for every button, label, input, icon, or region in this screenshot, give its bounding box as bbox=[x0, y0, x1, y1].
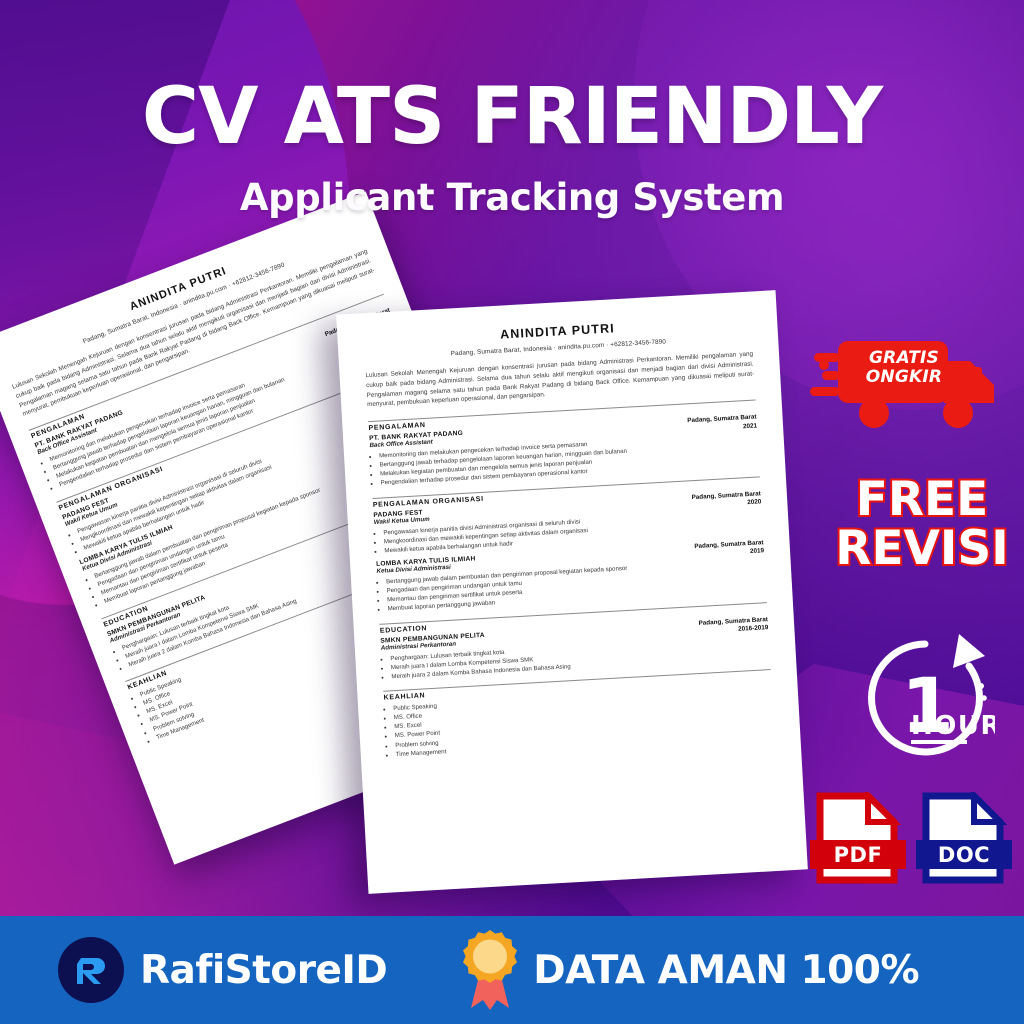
doc-label: DOC bbox=[916, 840, 1012, 869]
medal-ribbon-icon bbox=[459, 928, 521, 1012]
cv-front-period: 2020 bbox=[747, 498, 761, 506]
poster-header: CV ATS FRIENDLY Applicant Tracking Syste… bbox=[0, 78, 1024, 219]
free-revisi-badge: FREE REVISI bbox=[824, 476, 1020, 574]
brand-block: RafiStoreID bbox=[58, 937, 387, 1003]
doc-file-badge: DOC bbox=[918, 792, 1010, 884]
pdf-file-badge: PDF bbox=[812, 792, 904, 884]
one-hour-badge: 1 HOUR bbox=[855, 628, 995, 770]
one-hour-unit: HOUR bbox=[911, 711, 995, 741]
gratis-ongkir-badge: GRATIS ONGKIR bbox=[810, 325, 1010, 435]
free-revisi-line2: REVISI bbox=[824, 525, 1020, 574]
secure-text: DATA AMAN 100% bbox=[533, 948, 919, 993]
gratis-ongkir-line1: GRATIS bbox=[869, 348, 939, 368]
rafistore-r-icon bbox=[71, 950, 111, 990]
gratis-ongkir-text: GRATIS ONGKIR bbox=[852, 349, 956, 387]
gratis-ongkir-line2: ONGKIR bbox=[866, 367, 942, 387]
cv-front-section-education: EDUCATION SMKN PEMBANGUNAN PELITA Admini… bbox=[379, 602, 770, 682]
cv-front-section-pengalaman: PENGALAMAN PT. BANK RAKYAT PADANG Back O… bbox=[368, 399, 759, 488]
cv-front-section-skills: KEAHLIAN Public Speaking MS. Office MS. … bbox=[383, 669, 774, 759]
free-revisi-line1: FREE bbox=[824, 476, 1020, 525]
brand-name: RafiStoreID bbox=[140, 948, 387, 993]
doc-file-icon bbox=[918, 792, 1010, 884]
cv-front-period: 2021 bbox=[743, 422, 757, 430]
cv-front-section-organisasi: PENGALAMAN ORGANISASI PADANG FEST Wakil … bbox=[372, 476, 766, 614]
brand-logo bbox=[58, 937, 124, 1003]
page-title: CV ATS FRIENDLY bbox=[0, 78, 1024, 156]
secure-block: DATA AMAN 100% bbox=[459, 928, 919, 1012]
poster-canvas: CV ATS FRIENDLY Applicant Tracking Syste… bbox=[0, 0, 1024, 1024]
circular-arrow-icon: 1 HOUR bbox=[855, 628, 995, 770]
footer-bar: RafiStoreID DATA AMAN 100% bbox=[0, 916, 1024, 1024]
pdf-label: PDF bbox=[810, 840, 906, 869]
cv-document-front: ANINDITA PUTRI Padang, Sumatra Barat, In… bbox=[336, 290, 808, 894]
cv-front-period: 2019 bbox=[750, 548, 764, 556]
page-subtitle: Applicant Tracking System bbox=[0, 176, 1024, 219]
pdf-file-icon bbox=[812, 792, 904, 884]
cv-front-period: 2016-2019 bbox=[738, 624, 768, 633]
file-format-badges: PDF DOC bbox=[812, 792, 1012, 884]
